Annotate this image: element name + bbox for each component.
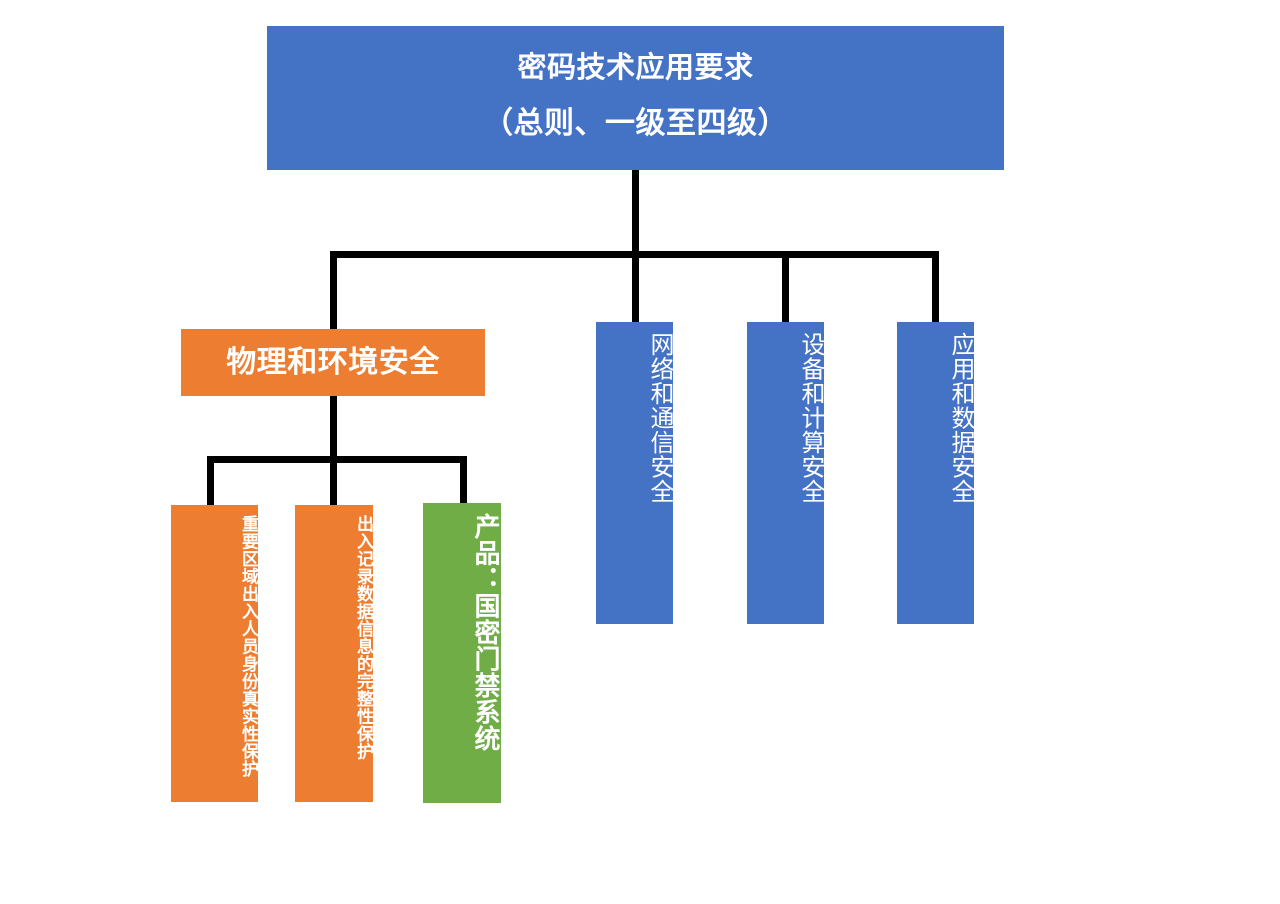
node-network-communication-security-label: 网络和通信安全 bbox=[645, 332, 673, 504]
node-device-computing-security[interactable]: 设备和计算安全 bbox=[747, 322, 824, 624]
node-product-guomi-access-control-system[interactable]: 产品：国密门禁系统 bbox=[423, 503, 501, 803]
node-application-data-security-label: 应用和数据安全 bbox=[946, 332, 974, 504]
connector-physical-stem bbox=[330, 396, 337, 463]
connector-level2-bus bbox=[207, 456, 467, 463]
node-device-computing-security-label: 设备和计算安全 bbox=[796, 332, 824, 504]
diagram-canvas: 密码技术应用要求 （总则、一级至四级） 物理和环境安全 网络和通信安全 设备和计… bbox=[0, 0, 1280, 904]
node-root[interactable]: 密码技术应用要求 （总则、一级至四级） bbox=[267, 26, 1004, 170]
node-root-line1: 密码技术应用要求 bbox=[517, 51, 753, 85]
node-physical-environment-security[interactable]: 物理和环境安全 bbox=[181, 329, 485, 396]
connector-drop-product bbox=[460, 456, 467, 504]
node-entry-record-integrity-protection-label: 出入记录数据信息的完整性保护 bbox=[353, 515, 373, 760]
connector-drop-device bbox=[782, 251, 789, 324]
node-area-entry-identity-protection[interactable]: 重要区域出入人员身份真实性保护 bbox=[171, 505, 258, 802]
connector-drop-physical bbox=[330, 251, 337, 331]
connector-drop-network bbox=[632, 251, 639, 324]
connector-drop-record-integrity bbox=[330, 456, 337, 506]
node-network-communication-security[interactable]: 网络和通信安全 bbox=[596, 322, 673, 624]
node-application-data-security[interactable]: 应用和数据安全 bbox=[897, 322, 974, 624]
connector-root-stem bbox=[632, 170, 639, 254]
connector-drop-application bbox=[932, 251, 939, 324]
node-entry-record-integrity-protection[interactable]: 出入记录数据信息的完整性保护 bbox=[295, 505, 373, 802]
connector-drop-area-identity bbox=[207, 456, 214, 506]
node-root-line2: （总则、一级至四级） bbox=[483, 106, 788, 141]
node-area-entry-identity-protection-label: 重要区域出入人员身份真实性保护 bbox=[238, 515, 258, 778]
node-product-guomi-access-control-system-label: 产品：国密门禁系统 bbox=[470, 513, 501, 752]
node-physical-environment-security-label: 物理和环境安全 bbox=[226, 345, 440, 380]
